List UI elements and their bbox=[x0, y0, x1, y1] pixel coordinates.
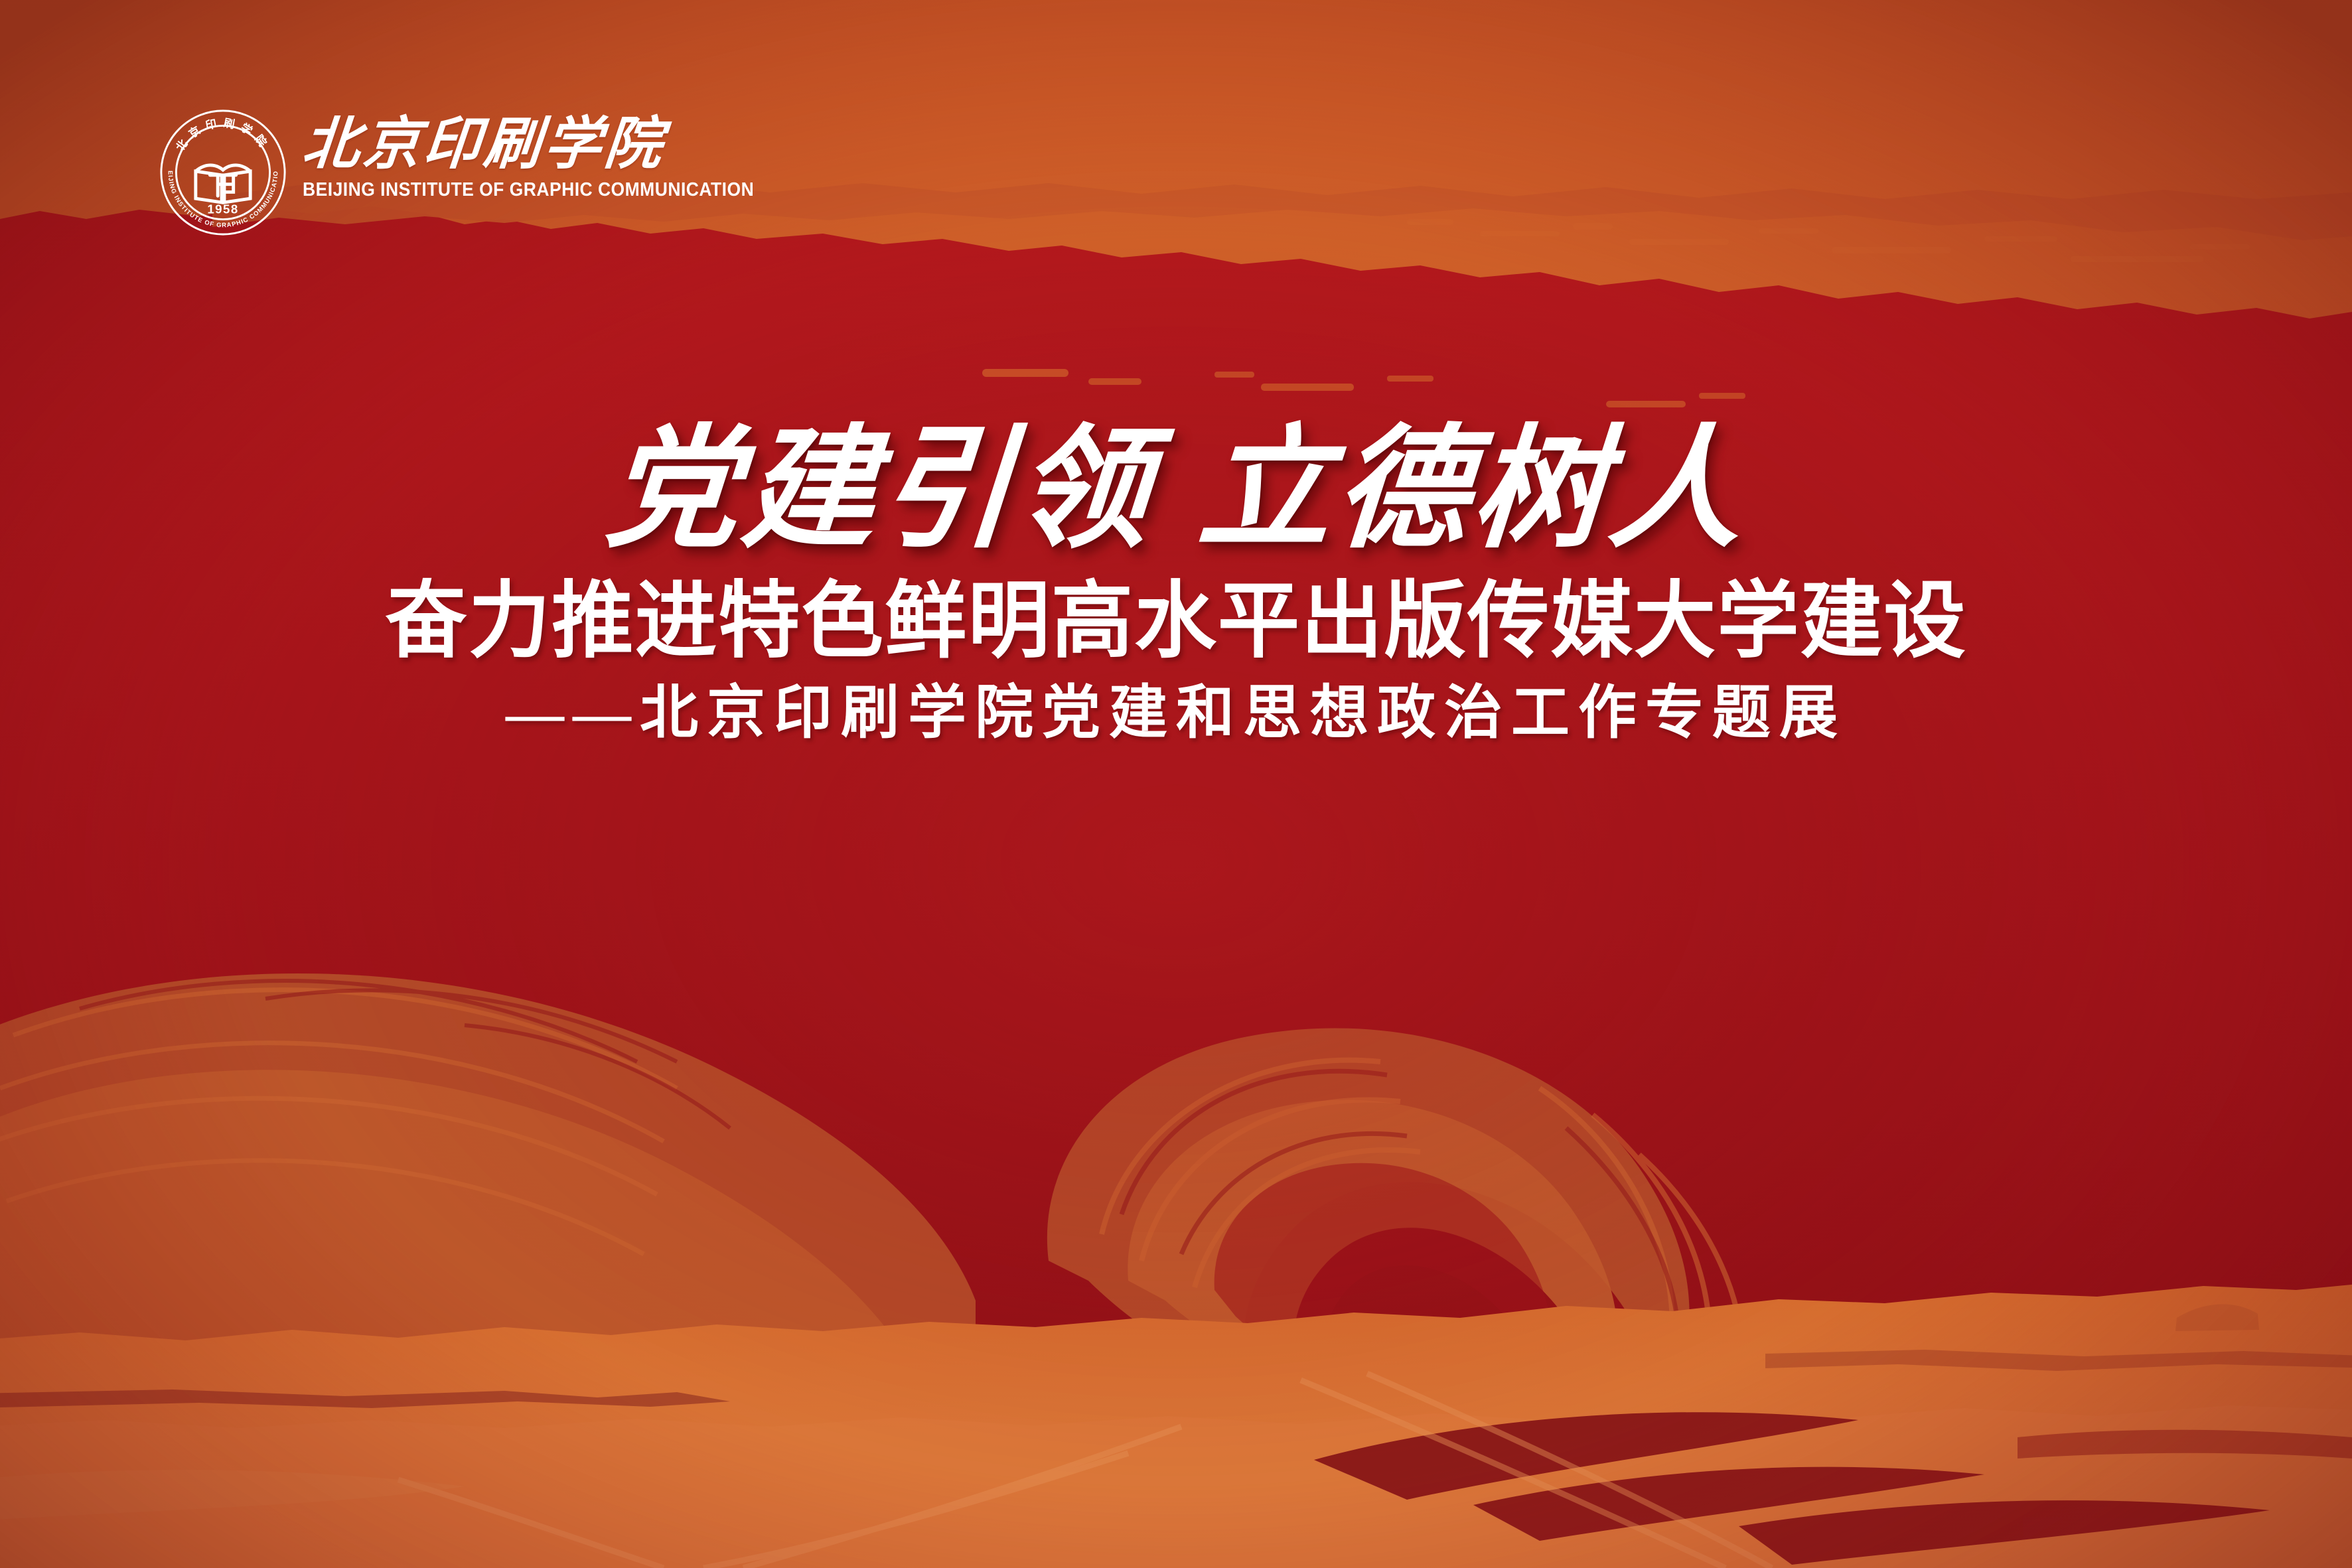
seal-year-text: 1958 bbox=[207, 202, 238, 216]
main-title-right: 立德树人 bbox=[1194, 417, 1751, 564]
main-title-left: 党建引领 bbox=[601, 417, 1157, 564]
main-title: 党建引领立德树人 bbox=[0, 425, 2352, 557]
tertiary-title: ——北京印刷学院党建和思想政治工作专题展 bbox=[0, 682, 2352, 747]
logo-name-en: BEIJING INSTITUTE OF GRAPHIC COMMUNICATI… bbox=[303, 179, 754, 201]
seal-emblem-icon: 1958 北京印刷学院 BEIJING INSTITUTE OF GRAPHIC… bbox=[158, 107, 288, 238]
poster-canvas: 1958 北京印刷学院 BEIJING INSTITUTE OF GRAPHIC… bbox=[0, 0, 2352, 1568]
logo-wordmark: 北京印刷学院 BEIJING INSTITUTE OF GRAPHIC COMM… bbox=[303, 111, 788, 201]
logo-name-cn: 北京印刷学院 bbox=[300, 115, 790, 174]
university-logo[interactable]: 1958 北京印刷学院 BEIJING INSTITUTE OF GRAPHIC… bbox=[158, 111, 788, 238]
subtitle: 奋力推进特色鲜明高水平出版传媒大学建设 bbox=[23, 577, 2328, 665]
title-block: 党建引领立德树人 奋力推进特色鲜明高水平出版传媒大学建设 ——北京印刷学院党建和… bbox=[0, 425, 2352, 747]
